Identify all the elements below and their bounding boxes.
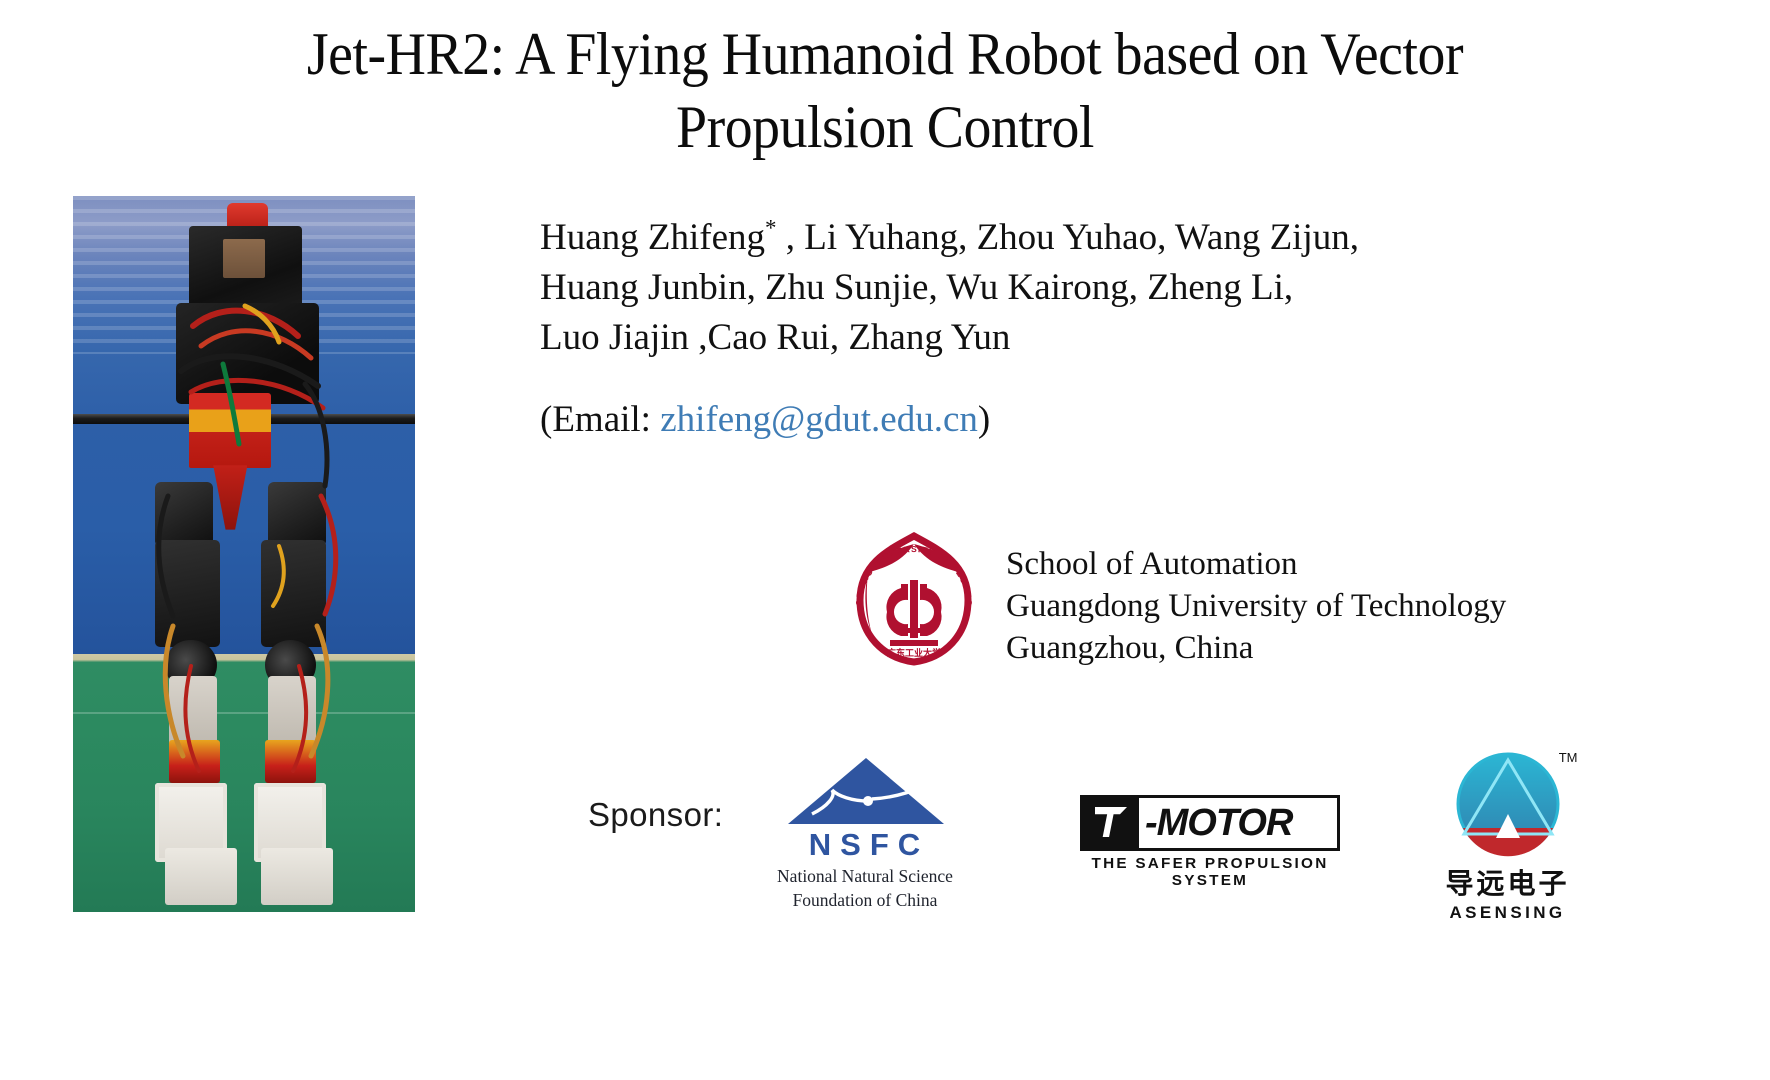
nsfc-logo: NSFC National Natural Science Foundation… [770, 758, 960, 911]
title-line-2: Propulsion Control [62, 91, 1708, 164]
email-link[interactable]: zhifeng@gdut.edu.cn [660, 399, 978, 440]
sponsor-logo-row: NSFC National Natural Science Foundation… [740, 740, 1670, 920]
email-prefix-label: (Email: [540, 399, 660, 440]
page-title: Jet-HR2: A Flying Humanoid Robot based o… [0, 18, 1770, 164]
author-line-3: Luo Jiajin ,Cao Rui, Zhang Yun [540, 313, 1550, 363]
nsfc-swoosh-icon [810, 786, 925, 816]
nsfc-triangle-mark [770, 758, 960, 826]
t-motor-tagline: THE SAFER PROPULSION SYSTEM [1077, 855, 1342, 889]
robot-wiring [73, 196, 415, 912]
nsfc-subtitle-line-1: National Natural Science [770, 866, 960, 887]
nsfc-subtitle-line-2: Foundation of China [770, 890, 960, 911]
t-motor-t-icon [1083, 798, 1139, 848]
affiliation-city: Guangzhou, China [1006, 627, 1626, 669]
gdut-chinese-name: 广东工业大学 [887, 647, 941, 659]
email-suffix-label: ) [978, 399, 990, 440]
author-first-name: Huang Zhifeng [540, 217, 765, 258]
author-line-1-rest: , Li Yuhang, Zhou Yuhao, Wang Zijun, [777, 217, 1359, 258]
affiliation-university: Guangdong University of Technology [1006, 585, 1626, 627]
affiliation-block: School of Automation Guangdong Universit… [1006, 543, 1626, 669]
gdut-logo: GUANGDONG UNIVERSITY OF TECHNOLOGY 广东工业大… [844, 528, 984, 668]
title-line-1: Jet-HR2: A Flying Humanoid Robot based o… [62, 18, 1708, 91]
nsfc-acronym: NSFC [770, 827, 960, 863]
t-motor-logo: -MOTOR THE SAFER PROPULSION SYSTEM [1080, 795, 1340, 889]
author-line-1: Huang Zhifeng* , Li Yuhang, Zhou Yuhao, … [540, 213, 1550, 263]
asensing-triangle-circle-icon [1452, 748, 1564, 860]
email-line: (Email: zhifeng@gdut.edu.cn) [540, 395, 990, 445]
robot-photo [73, 196, 415, 912]
asensing-mark: TM [1452, 748, 1564, 860]
t-motor-wordmark-bar: -MOTOR [1080, 795, 1340, 851]
author-list: Huang Zhifeng* , Li Yuhang, Zhou Yuhao, … [540, 213, 1550, 363]
sponsor-label: Sponsor: [588, 796, 723, 834]
asensing-english-name: ASENSING [1420, 903, 1595, 923]
t-motor-wordmark: -MOTOR [1139, 804, 1292, 842]
affiliation-school: School of Automation [1006, 543, 1626, 585]
asensing-chinese-name: 导远电子 [1420, 862, 1595, 902]
author-line-2: Huang Junbin, Zhu Sunjie, Wu Kairong, Zh… [540, 263, 1550, 313]
asensing-trademark: TM [1559, 750, 1578, 765]
corresponding-author-mark: * [765, 216, 777, 241]
asensing-logo: TM 导远电子 ASENSING [1420, 748, 1595, 923]
